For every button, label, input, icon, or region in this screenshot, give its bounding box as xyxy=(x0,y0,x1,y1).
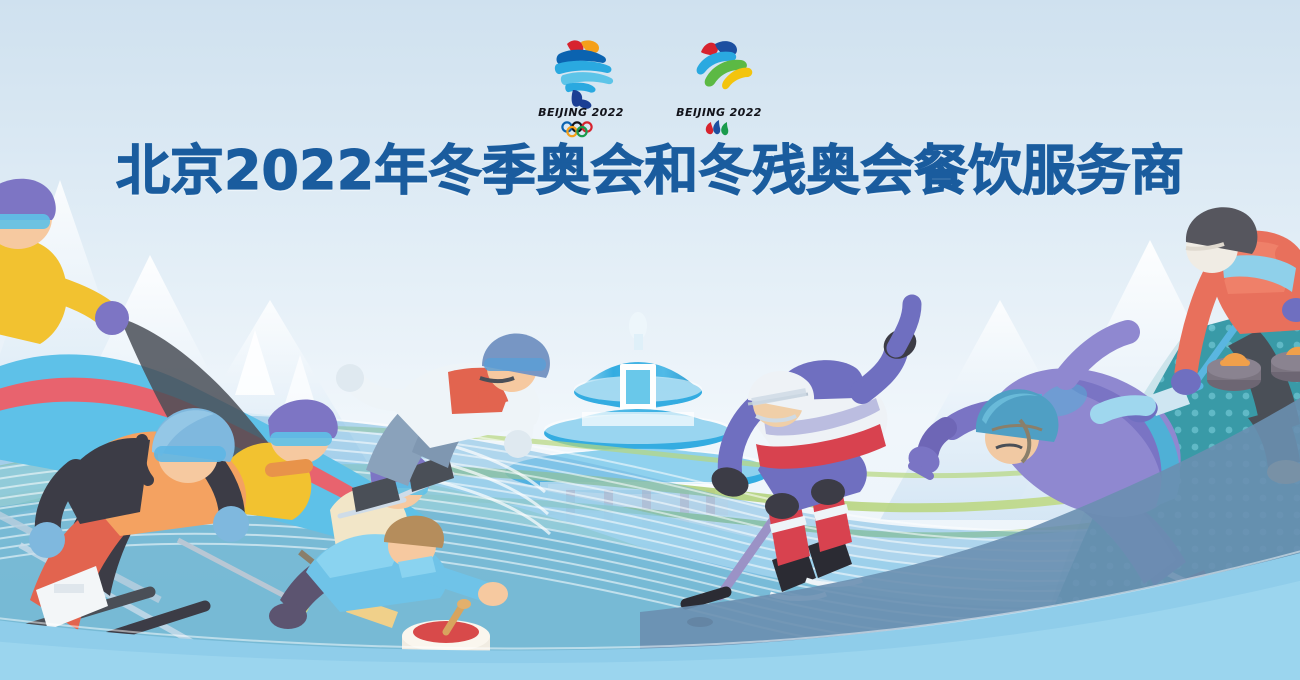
beijing-2022-catering-banner: BEIJING 2022 xyxy=(0,0,1300,680)
olympic-wordmark: BEIJING 2022 xyxy=(538,106,624,119)
banner-title-wrapper: 北京2022年冬季奥会和冬残奥会餐饮服务商 xyxy=(0,143,1300,200)
emblem-row: BEIJING 2022 xyxy=(0,30,1300,142)
paralympic-wordmark: BEIJING 2022 xyxy=(676,106,762,119)
olympic-emblem: BEIJING 2022 xyxy=(533,30,629,138)
paralympic-emblem: BEIJING 2022 xyxy=(671,30,767,138)
page-title: 北京2022年冬季奥会和冬残奥会餐饮服务商 xyxy=(116,143,1184,200)
